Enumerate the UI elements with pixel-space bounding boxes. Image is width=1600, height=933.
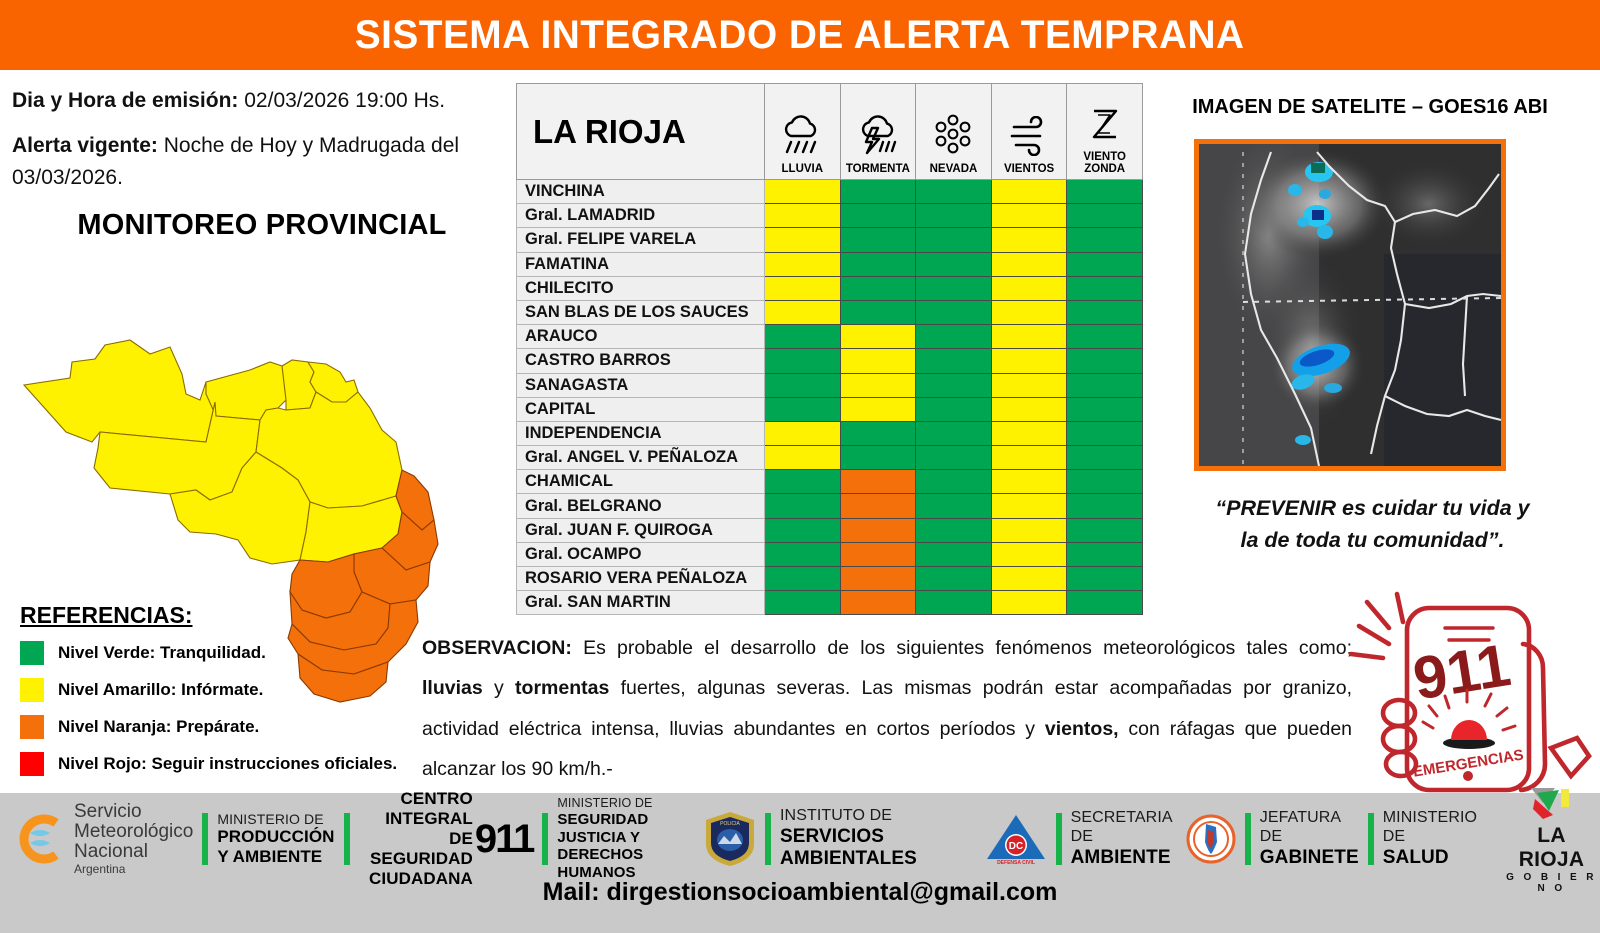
alert-value: Noche de Hoy y Madrugada del [164,134,459,157]
table-row: CHAMICAL [517,470,1143,494]
alert-cell-viento-zonda [1067,252,1143,276]
table-row: ARAUCO [517,325,1143,349]
alert-cell-lluvia [765,446,841,470]
alert-cell-viento-zonda [1067,276,1143,300]
table-row: FAMATINA [517,252,1143,276]
legend-swatch-yellow [20,678,44,702]
alert-cell-tormenta [840,567,916,591]
legend-label-red: Nivel Rojo: Seguir instrucciones oficial… [58,754,397,774]
divider-2 [344,813,350,865]
alert-cell-lluvia [765,591,841,615]
rain-icon [765,112,840,161]
observation-part-2: y [483,677,515,699]
province-name: LA RIOJA [517,84,765,180]
alert-cell-vientos [991,228,1067,252]
alert-cell-viento-zonda [1067,204,1143,228]
department-name: SANAGASTA [517,373,765,397]
alert-cell-tormenta [840,446,916,470]
alert-cell-nevada [916,542,992,566]
jg-bold-1: GABINETE [1260,847,1359,869]
department-name: ROSARIO VERA PEÑALOZA [517,567,765,591]
isa-small: INSTITUTO DE [780,807,971,826]
logo-ministerio-produccion-ambiente: MINISTERIO DE PRODUCCIÓN Y AMBIENTE [217,806,334,872]
divider-6 [1245,813,1251,865]
table-row: Gral. SAN MARTIN [517,591,1143,615]
department-name: CHAMICAL [517,470,765,494]
defensa-civil-icon: DC DEFENSA CIVIL [985,811,1047,867]
alert-cell-nevada [916,421,992,445]
legend-item-naranja: Nivel Naranja: Prepárate. [20,715,440,739]
table-row: Gral. ANGEL V. PEÑALOZA [517,446,1143,470]
column-vientos: VIENTOS [991,84,1067,180]
alert-label: Alerta vigente: [12,134,158,157]
alert-cell-nevada [916,397,992,421]
table-row: CAPITAL [517,397,1143,421]
divider-3 [542,813,548,865]
department-name: INDEPENDENCIA [517,421,765,445]
references-legend: REFERENCIAS: Nivel Verde: Tranquilidad. … [20,602,440,789]
legend-swatch-green [20,641,44,665]
alert-cell-lluvia [765,349,841,373]
alert-cell-vientos [991,591,1067,615]
table-row: ROSARIO VERA PEÑALOZA [517,567,1143,591]
logo-ministerio-salud: MINISTERIO DE SALUD [1383,806,1477,872]
alert-cell-viento-zonda [1067,325,1143,349]
alert-cell-vientos [991,180,1067,204]
footer-logos: Servicio Meteorológico Nacional Argentin… [0,800,1600,878]
legend-item-rojo: Nivel Rojo: Seguir instrucciones oficial… [20,752,440,776]
department-name: Gral. LAMADRID [517,204,765,228]
alert-cell-vientos [991,518,1067,542]
alert-cell-vientos [991,204,1067,228]
mpa-bold-1: PRODUCCIÓN [217,827,334,847]
alert-cell-tormenta [840,276,916,300]
alert-cell-viento-zonda [1067,373,1143,397]
alert-cell-tormenta [840,349,916,373]
alert-cell-lluvia [765,421,841,445]
table-row: Gral. JUAN F. QUIROGA [517,518,1143,542]
alert-cell-viento-zonda [1067,542,1143,566]
logo-servicio-meteorologico-nacional: Servicio Meteorológico Nacional Argentin… [14,806,193,872]
cisc-bold-1: CENTRO INTEGRAL [359,789,473,829]
alert-cell-nevada [916,349,992,373]
column-label-nevada: NEVADA [916,163,991,175]
legend-label-green: Nivel Verde: Tranquilidad. [58,643,266,663]
legend-item-amarillo: Nivel Amarillo: Infórmate. [20,678,440,702]
table-row: Gral. LAMADRID [517,204,1143,228]
alert-cell-nevada [916,300,992,324]
alert-cell-tormenta [840,542,916,566]
alert-table-body: VINCHINAGral. LAMADRIDGral. FELIPE VAREL… [517,180,1143,615]
quote-line-2: la de toda tu comunidad”. [1241,528,1505,552]
mpa-small: MINISTERIO DE [217,811,334,828]
alert-cell-nevada [916,276,992,300]
alert-cell-vientos [991,276,1067,300]
table-row: Gral. FELIPE VARELA [517,228,1143,252]
alert-cell-tormenta [840,180,916,204]
observation-bold-lluvias: lluvias [422,677,483,699]
alert-cell-viento-zonda [1067,591,1143,615]
monitoring-title: MONITOREO PROVINCIAL [12,209,512,242]
msj-bold-2: JUSTICIA Y [557,829,688,847]
alert-cell-nevada [916,373,992,397]
alert-cell-nevada [916,591,992,615]
la-rioja-emblem-icon [1525,785,1579,819]
alert-cell-nevada [916,470,992,494]
alert-cell-vientos [991,397,1067,421]
department-name: SAN BLAS DE LOS SAUCES [517,300,765,324]
observation-text: OBSERVACION: Es probable el desarrollo d… [422,628,1352,789]
department-name: CASTRO BARROS [517,349,765,373]
mpa-bold-2: Y AMBIENTE [217,847,334,867]
alert-cell-lluvia [765,397,841,421]
smn-line-3: Nacional [74,842,193,862]
column-label-viento-zonda: VIENTOZONDA [1067,151,1142,175]
department-name: Gral. ANGEL V. PEÑALOZA [517,446,765,470]
alert-cell-viento-zonda [1067,470,1143,494]
police-shield-icon: POLICIA [704,810,756,868]
alert-cell-viento-zonda [1067,300,1143,324]
alert-cell-viento-zonda [1067,567,1143,591]
department-name: VINCHINA [517,180,765,204]
alert-cell-tormenta [840,421,916,445]
zonda-wind-icon [1067,104,1142,149]
alert-cell-vientos [991,252,1067,276]
alert-cell-lluvia [765,252,841,276]
table-row: Gral. BELGRANO [517,494,1143,518]
department-name: FAMATINA [517,252,765,276]
alert-cell-tormenta [840,204,916,228]
dc-line-1: DEFENSA CIVIL [997,860,1035,866]
department-name: Gral. SAN MARTIN [517,591,765,615]
column-viento-zonda: VIENTOZONDA [1067,84,1143,180]
snow-icon [916,112,991,161]
page-title: SISTEMA INTEGRADO DE ALERTA TEMPRANA [355,13,1245,58]
alert-cell-viento-zonda [1067,421,1143,445]
hand-phone-911-icon: 911 EMERGENCIAS [1345,588,1595,800]
department-name: CAPITAL [517,397,765,421]
observation-part-1: Es probable el desarrollo de los siguien… [572,637,1352,659]
logo-jefatura-gabinete: JEFATURA DE GABINETE [1260,806,1359,872]
observation-bold-tormentas: tormentas [515,677,609,699]
satellite-image [1194,139,1506,471]
alert-validity: Alerta vigente: Noche de Hoy y Madrugada… [12,130,512,193]
table-row: SAN BLAS DE LOS SAUCES [517,300,1143,324]
alert-cell-vientos [991,325,1067,349]
alert-cell-lluvia [765,518,841,542]
alert-cell-lluvia [765,325,841,349]
alert-cell-viento-zonda [1067,518,1143,542]
alert-cell-nevada [916,494,992,518]
table-row: CHILECITO [517,276,1143,300]
department-name: CHILECITO [517,276,765,300]
alert-cell-tormenta [840,494,916,518]
alert-cell-lluvia [765,373,841,397]
satellite-title: IMAGEN DE SATELITE – GOES16 ABI [1150,96,1590,119]
alert-cell-vientos [991,567,1067,591]
alert-cell-lluvia [765,470,841,494]
emission-info: Dia y Hora de emisión: 02/03/2026 19:00 … [12,88,512,242]
column-nevada: NEVADA [916,84,992,180]
satellite-image-svg [1199,144,1501,466]
alert-cell-lluvia [765,180,841,204]
logo-instituto-servicios-ambientales: INSTITUTO DE SERVICIOS AMBIENTALES [780,806,971,872]
emission-label: Dia y Hora de emisión: [12,89,238,112]
alert-cell-vientos [991,494,1067,518]
legend-swatch-orange [20,715,44,739]
logo-la-rioja-gobierno: LA RIOJA G O B I E R N O [1503,806,1600,872]
alert-table-container: LA RIOJA LLUVIA [516,83,1142,615]
sa-small: SECRETARIA DE [1071,809,1172,847]
department-name: Gral. FELIPE VARELA [517,228,765,252]
emission-datetime: Dia y Hora de emisión: 02/03/2026 19:00 … [12,88,512,114]
jg-small: JEFATURA DE [1260,809,1359,847]
column-label-lluvia: LLUVIA [765,163,840,175]
logo-ministerio-seguridad-justicia: MINISTERIO DE SEGURIDAD JUSTICIA Y DEREC… [557,806,688,872]
policia-text: POLICIA [720,821,740,827]
alert-cell-viento-zonda [1067,349,1143,373]
table-header-row: LA RIOJA LLUVIA [517,84,1143,180]
alert-cell-tormenta [840,325,916,349]
references-title: REFERENCIAS: [20,602,440,629]
legend-label-orange: Nivel Naranja: Prepárate. [58,717,259,737]
smn-line-1: Servicio [74,802,193,822]
table-row: SANAGASTA [517,373,1143,397]
alert-cell-nevada [916,204,992,228]
prevention-quote: “PREVENIR es cuidar tu vida y la de toda… [1165,492,1580,557]
alert-cell-lluvia [765,567,841,591]
department-name: Gral. BELGRANO [517,494,765,518]
jefatura-seal-icon [1186,814,1236,864]
alert-cell-vientos [991,542,1067,566]
alert-cell-nevada [916,228,992,252]
alert-table: LA RIOJA LLUVIA [516,83,1143,615]
alert-cell-vientos [991,349,1067,373]
alert-cell-vientos [991,373,1067,397]
sa-bold-1: AMBIENTE [1071,847,1172,869]
legend-swatch-red [20,752,44,776]
contact-mail: Mail: dirgestionsocioambiental@gmail.com [0,878,1600,907]
department-name: Gral. JUAN F. QUIROGA [517,518,765,542]
alert-cell-tormenta [840,252,916,276]
alert-cell-nevada [916,325,992,349]
lrg-bold-1: LA RIOJA [1503,824,1600,872]
alert-cell-lluvia [765,300,841,324]
alert-cell-nevada [916,446,992,470]
logo-secretaria-ambiente: SECRETARIA DE AMBIENTE [1071,806,1172,872]
alert-cell-nevada [916,180,992,204]
alert-cell-tormenta [840,397,916,421]
alert-cell-tormenta [840,228,916,252]
alert-cell-nevada [916,252,992,276]
column-label-tormenta: TORMENTA [841,163,916,175]
column-lluvia: LLUVIA [765,84,841,180]
dc-mark: DC [1008,841,1022,852]
alert-cell-lluvia [765,204,841,228]
alert-cell-nevada [916,518,992,542]
divider-5 [1056,813,1062,865]
table-row: CASTRO BARROS [517,349,1143,373]
alert-cell-viento-zonda [1067,494,1143,518]
emission-value: 02/03/2026 19:00 Hs. [244,89,445,112]
logo-defensa-civil: DC DEFENSA CIVIL [985,806,1047,872]
cisc-bold-2: DE SEGURIDAD [359,829,473,869]
emergency-911-graphic: 911 EMERGENCIAS [1345,588,1595,800]
alert-cell-lluvia [765,542,841,566]
wind-icon [992,116,1067,161]
alert-cell-tormenta [840,300,916,324]
table-row: VINCHINA [517,180,1143,204]
department-name: ARAUCO [517,325,765,349]
page-banner: SISTEMA INTEGRADO DE ALERTA TEMPRANA [0,0,1600,70]
table-row: Gral. OCAMPO [517,542,1143,566]
alert-cell-vientos [991,470,1067,494]
department-name: Gral. OCAMPO [517,542,765,566]
alert-cell-vientos [991,300,1067,324]
alert-cell-viento-zonda [1067,180,1143,204]
smn-line-4: Argentina [74,862,193,876]
alert-value-2: 03/03/2026. [12,166,123,189]
column-tormenta: TORMENTA [840,84,916,180]
divider-4 [765,813,771,865]
msj-bold-1: SEGURIDAD [557,811,688,829]
isa-bold-1: SERVICIOS AMBIENTALES [780,826,971,871]
alert-cell-tormenta [840,591,916,615]
divider-7 [1368,813,1374,865]
alert-cell-tormenta [840,470,916,494]
divider-1 [202,813,208,865]
legend-item-verde: Nivel Verde: Tranquilidad. [20,641,440,665]
alert-cell-lluvia [765,494,841,518]
storm-icon [841,112,916,161]
alert-cell-lluvia [765,276,841,300]
quote-line-1: “PREVENIR es cuidar tu vida y [1215,496,1529,520]
alert-cell-viento-zonda [1067,397,1143,421]
alert-cell-lluvia [765,228,841,252]
observation-label: OBSERVACION: [422,637,572,659]
alert-cell-tormenta [840,518,916,542]
legend-label-yellow: Nivel Amarillo: Infórmate. [58,680,263,700]
alert-cell-viento-zonda [1067,446,1143,470]
ms-bold-1: SALUD [1383,847,1477,869]
logo-jefatura-emblem [1186,806,1236,872]
logo-policia-la-rioja: POLICIA [704,806,756,872]
alert-cell-vientos [991,421,1067,445]
observation-bold-vientos: vientos, [1045,718,1119,740]
msj-small: MINISTERIO DE [557,796,688,811]
table-row: INDEPENDENCIA [517,421,1143,445]
smn-line-2: Meteorológico [74,822,193,842]
ms-small: MINISTERIO DE [1383,809,1477,847]
alert-cell-vientos [991,446,1067,470]
alert-cell-nevada [916,567,992,591]
msj-bold-3: DERECHOS HUMANOS [557,846,688,881]
column-label-vientos: VIENTOS [992,163,1067,175]
smn-logo-icon [14,811,66,867]
alert-cell-tormenta [840,373,916,397]
logo-centro-integral-seguridad: CENTRO INTEGRAL DE SEGURIDAD CIUDADANA 9… [359,806,534,872]
cisc-911-number: 911 [475,817,534,862]
alert-cell-viento-zonda [1067,228,1143,252]
